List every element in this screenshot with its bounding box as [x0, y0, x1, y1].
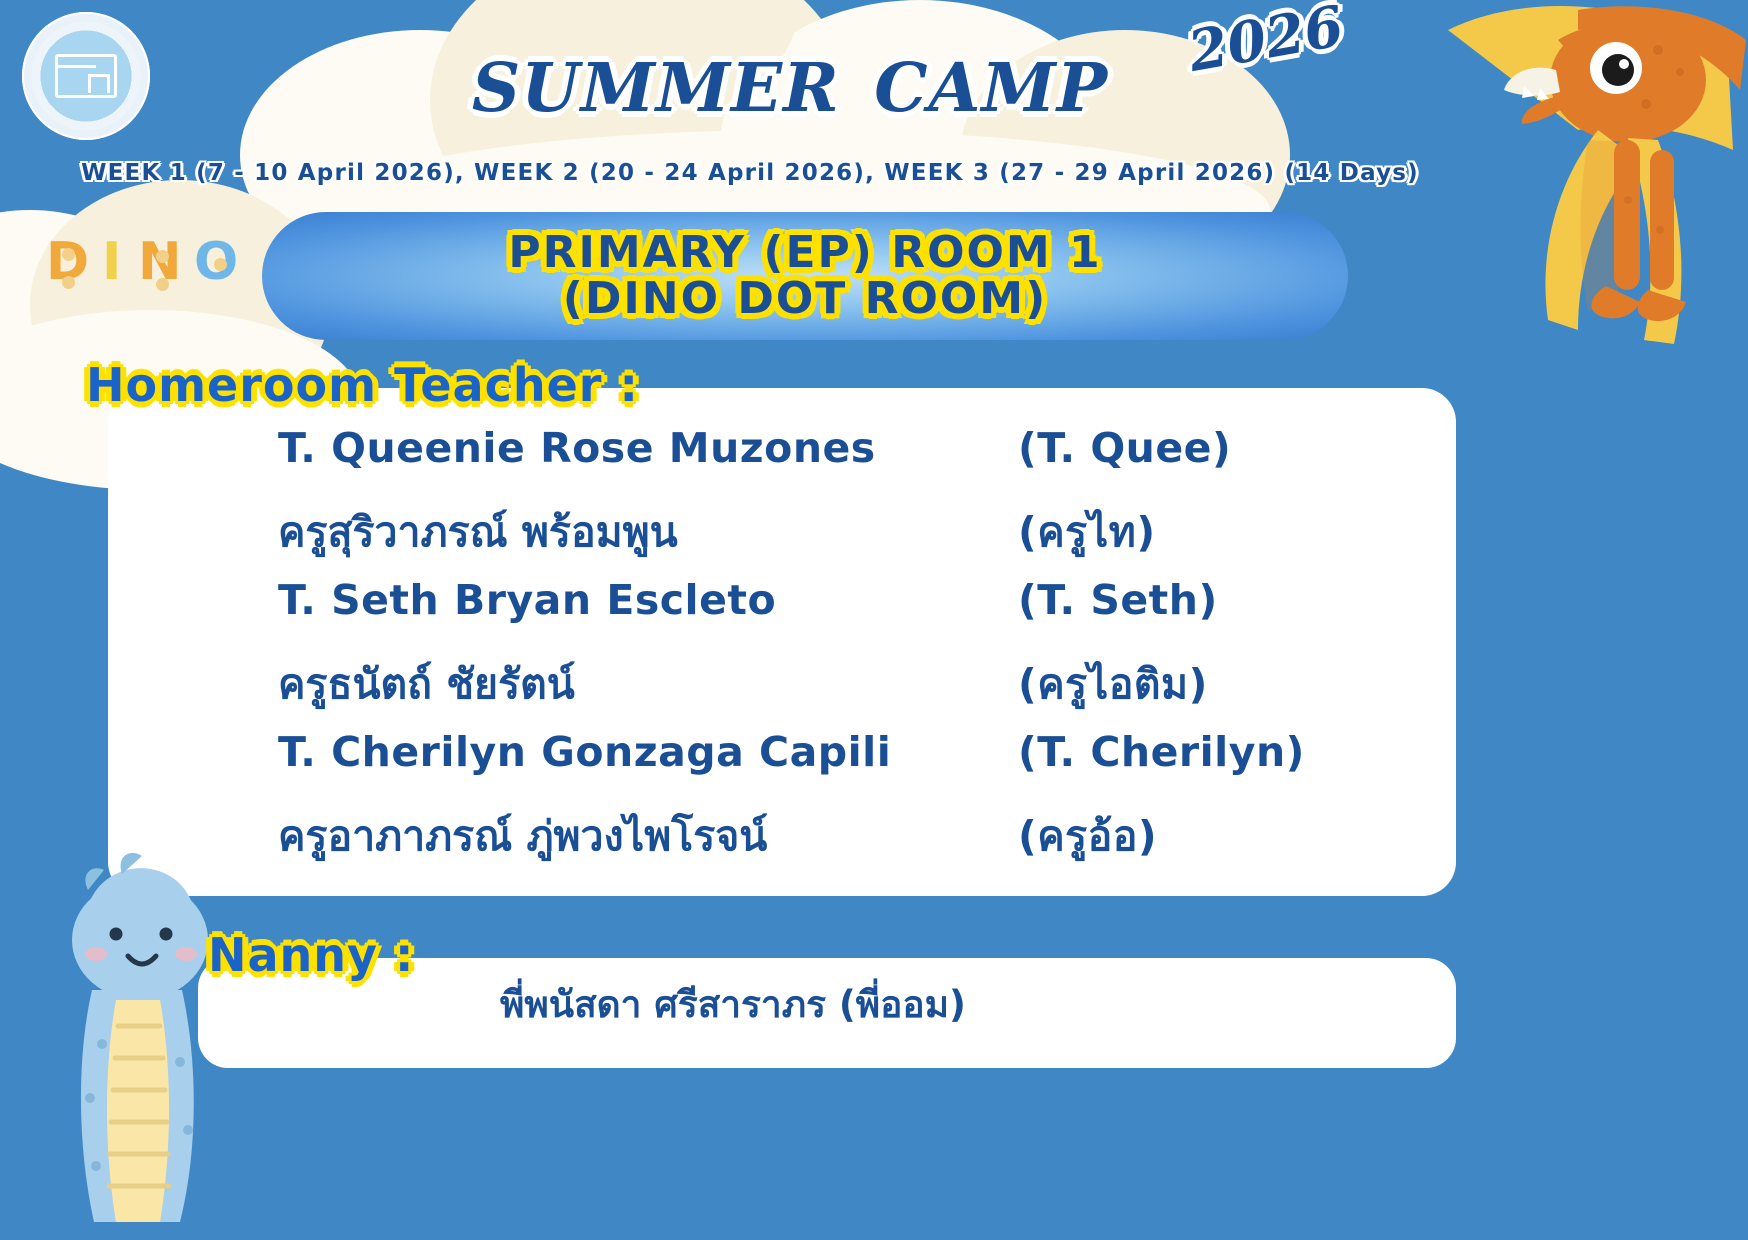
teacher-list: T. Queenie Rose Muzones (T. Quee) ครูสุร…	[108, 424, 1456, 880]
teacher-row: T. Cherilyn Gonzaga Capili (T. Cherilyn)	[278, 728, 1456, 804]
teacher-name: ครูธนัตถ์ ชัยรัตน์	[278, 652, 1018, 717]
teacher-nickname: (T. Seth)	[1018, 576, 1218, 624]
room-name-line1: PRIMARY (EP) ROOM 1	[508, 230, 1101, 276]
teacher-row: T. Seth Bryan Escleto (T. Seth)	[278, 576, 1456, 652]
school-logo	[22, 12, 150, 140]
room-banner: PRIMARY (EP) ROOM 1 (DINO DOT ROOM)	[262, 212, 1348, 340]
school-building-icon	[55, 54, 117, 98]
teacher-name: T. Seth Bryan Escleto	[278, 576, 1018, 624]
teacher-name: T. Cherilyn Gonzaga Capili	[278, 728, 1018, 776]
teacher-row: ครูธนัตถ์ ชัยรัตน์ (ครูไอติม)	[278, 652, 1456, 728]
teacher-nickname: (T. Cherilyn)	[1018, 728, 1305, 776]
teacher-row: ครูอาภาภรณ์ ภู่พวงไพโรจน์ (ครูอ้อ)	[278, 804, 1456, 880]
teacher-nickname: (T. Quee)	[1018, 424, 1231, 472]
teacher-nickname: (ครูอ้อ)	[1018, 804, 1157, 869]
dino-word-decoration: D I N O	[46, 236, 256, 308]
room-name-line2: (DINO DOT ROOM)	[563, 276, 1047, 322]
dino-letter-i: I	[102, 236, 121, 288]
camp-weeks-line: WEEK 1 (7 - 10 April 2026), WEEK 2 (20 -…	[0, 160, 1500, 186]
homeroom-teacher-label: Homeroom Teacher :	[86, 358, 639, 412]
nanny-label: Nanny :	[208, 928, 414, 982]
teacher-name: T. Queenie Rose Muzones	[278, 424, 1018, 472]
teacher-row: ครูสุริวาภรณ์ พร้อมพูน (ครูไท)	[278, 500, 1456, 576]
page-title: summer camp	[360, 30, 1220, 126]
teacher-name: ครูอาภาภรณ์ ภู่พวงไพโรจน์	[278, 804, 1018, 869]
pterodactyl-illustration	[1328, 0, 1748, 380]
nanny-name: พี่พนัสดา ศรีสาราภร (พี่ออม)	[500, 975, 966, 1034]
baby-dino-illustration	[30, 830, 260, 1230]
teacher-nickname: (ครูไอติม)	[1018, 652, 1208, 717]
teacher-name: ครูสุริวาภรณ์ พร้อมพูน	[278, 500, 1018, 565]
teacher-row: T. Queenie Rose Muzones (T. Quee)	[278, 424, 1456, 500]
teacher-nickname: (ครูไท)	[1018, 500, 1156, 565]
